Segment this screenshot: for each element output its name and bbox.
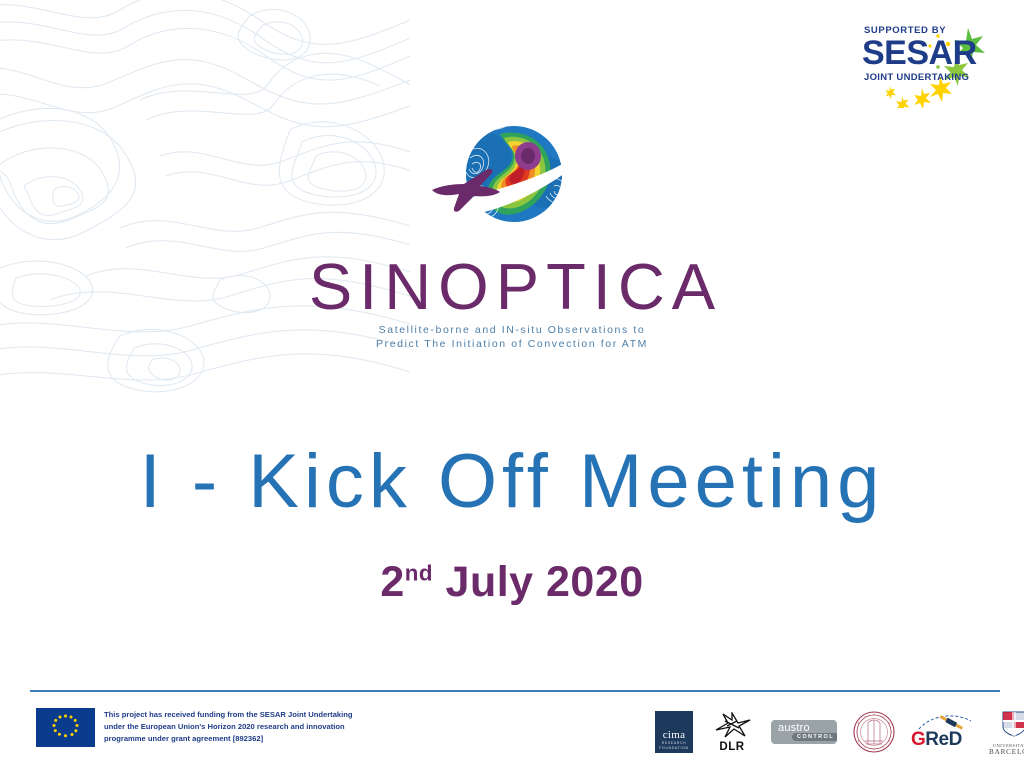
- gred-letter-g: G: [911, 729, 925, 750]
- sesar-wordmark: SESAR: [862, 36, 977, 70]
- universita-di-padova-seal-icon: [853, 711, 895, 753]
- austro-control-badge: CONTROL: [792, 733, 837, 741]
- eu-stars-circle: [36, 708, 95, 747]
- gred-wordmark: GReD: [911, 730, 973, 749]
- sinoptica-wordmark: SINOPTICA: [0, 254, 1024, 319]
- barcelona-crest-icon: [1000, 709, 1024, 737]
- slide-title: I - Kick Off Meeting: [0, 442, 1024, 522]
- partner-logo-universita-di-padova: [853, 708, 895, 756]
- cima-research-foundation-logo: cima RESEARCH FOUNDATION: [655, 711, 693, 753]
- partner-logos-strip: cima RESEARCH FOUNDATION DLR: [655, 704, 1012, 760]
- gred-letters-red: ReD: [925, 729, 962, 750]
- partner-logo-gred: GReD: [911, 708, 973, 756]
- sinoptica-logo-block: SINOPTICA Satellite-borne and IN-situ Ob…: [0, 118, 1024, 351]
- barcelona-line-2: BARCELONA: [989, 748, 1024, 756]
- partner-logo-dlr: DLR: [709, 708, 755, 756]
- cima-subtitle: RESEARCH FOUNDATION: [655, 741, 693, 751]
- sinoptica-tagline: Satellite-borne and IN-situ Observations…: [0, 323, 1024, 351]
- presentation-slide: SUPPORTED BY SESAR JOINT UNDERTAKING: [0, 0, 1024, 768]
- date-number: 2: [380, 558, 404, 606]
- cima-wordmark: cima: [655, 729, 693, 741]
- sesar-subtitle: JOINT UNDERTAKING: [864, 72, 969, 83]
- partner-logo-austro-control: austro CONTROL: [771, 708, 837, 756]
- dlr-wordmark: DLR: [709, 741, 755, 753]
- partner-logo-cima: cima RESEARCH FOUNDATION: [655, 708, 693, 756]
- date-ordinal-suffix: nd: [405, 561, 433, 586]
- universitat-de-barcelona-logo: UNIVERSITAT DE BARCELONA: [989, 709, 1024, 756]
- dlr-mark-icon: [712, 712, 752, 738]
- sinoptica-globe-airplane-icon: [426, 118, 598, 246]
- footer-divider: [30, 690, 1000, 692]
- dlr-logo: DLR: [709, 712, 755, 753]
- european-union-flag-icon: [36, 708, 95, 747]
- austro-control-logo: austro CONTROL: [771, 720, 837, 744]
- gred-logo: GReD: [911, 711, 973, 753]
- tagline-line-1: Satellite-borne and IN-situ Observations…: [0, 323, 1024, 337]
- partner-logo-universitat-de-barcelona: UNIVERSITAT DE BARCELONA: [989, 708, 1024, 756]
- tagline-line-2: Predict The Initiation of Convection for…: [0, 337, 1024, 351]
- date-month-year: July 2020: [433, 558, 644, 606]
- eu-funding-statement: This project has received funding from t…: [104, 709, 374, 744]
- slide-date: 2nd July 2020: [0, 558, 1024, 607]
- barcelona-line-1: UNIVERSITAT DE: [989, 743, 1024, 748]
- slide-footer: This project has received funding from t…: [0, 700, 1024, 768]
- sesar-joint-undertaking-logo: SUPPORTED BY SESAR JOINT UNDERTAKING: [842, 22, 1002, 108]
